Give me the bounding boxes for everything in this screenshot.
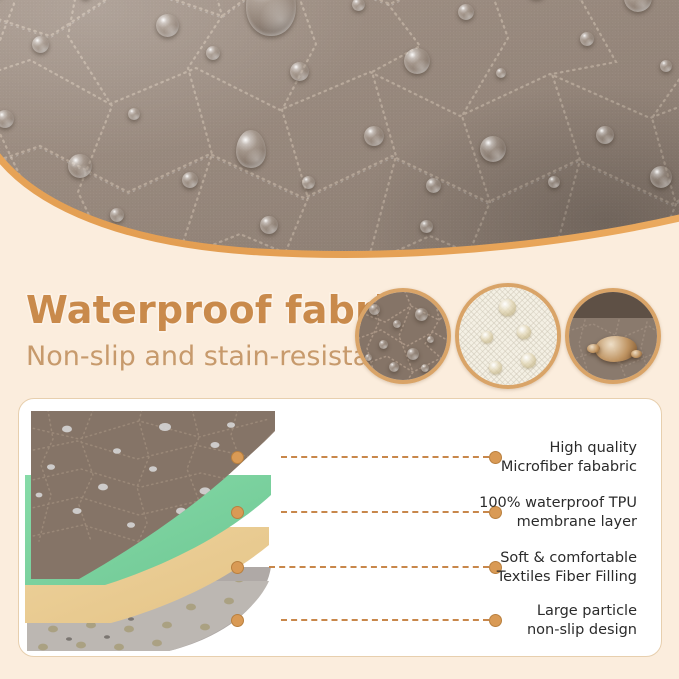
water-droplet: [480, 136, 506, 162]
fabric-texture: [0, 0, 679, 290]
callout-label-tpu: 100% waterproof TPU membrane layer: [479, 494, 637, 531]
water-droplet: [128, 108, 140, 120]
water-droplet: [290, 62, 309, 81]
layer-marker-4: [231, 614, 244, 627]
callout-line-1: Large particle: [527, 602, 637, 621]
callout-dot-4: [489, 614, 502, 627]
hero-photo-region: [0, 0, 679, 290]
callout-line-1: Soft & comfortable: [497, 549, 637, 568]
water-droplet: [364, 126, 384, 146]
infographic-page: Waterproof fabric Non-slip and stain-res…: [0, 0, 679, 679]
hero-photo-clip: [0, 0, 679, 290]
water-droplet: [596, 126, 614, 144]
page-title: Waterproof fabric: [26, 291, 410, 329]
water-droplet: [182, 172, 198, 188]
water-droplet: [110, 208, 124, 222]
water-droplet: [458, 4, 474, 20]
callout-line-2: Microfiber fababric: [501, 458, 637, 477]
leader-line-3: [269, 566, 489, 568]
callout-label-non-slip: Large particle non-slip design: [527, 602, 637, 639]
layer-marker-3: [231, 561, 244, 574]
page-subtitle: Non-slip and stain-resistant: [26, 343, 397, 370]
water-droplet: [156, 14, 179, 37]
callout-label-microfiber: High quality Microfiber fababric: [501, 439, 637, 476]
inset-water-droplets-on-fabric: [355, 288, 451, 384]
water-droplet: [426, 178, 441, 193]
water-droplet: [302, 176, 315, 189]
water-droplet: [206, 46, 220, 60]
water-droplet: [660, 60, 672, 72]
inset-beads-on-white-mesh: [455, 283, 561, 389]
water-droplet: [580, 32, 594, 46]
layer-stack-illustration: [19, 399, 349, 656]
water-droplet: [420, 220, 433, 233]
leader-line-4: [281, 619, 489, 621]
callout-line-2: membrane layer: [479, 513, 637, 532]
inset-liquid-spill-beading: [565, 288, 661, 384]
callout-line-1: High quality: [501, 439, 637, 458]
callout-line-2: non-slip design: [527, 621, 637, 640]
water-droplet: [496, 68, 506, 78]
leader-line-2: [281, 511, 489, 513]
water-droplet: [32, 36, 49, 53]
leader-line-1: [281, 456, 489, 458]
water-droplet: [650, 166, 672, 188]
layer-marker-2: [231, 506, 244, 519]
water-droplet: [260, 216, 278, 234]
water-droplet: [236, 130, 266, 168]
water-droplet: [548, 176, 560, 188]
callout-line-2: Textiles Fiber Filling: [497, 568, 637, 587]
water-droplet: [404, 48, 430, 74]
water-droplet: [68, 154, 92, 178]
layer-diagram-card: High quality Microfiber fababric 100% wa…: [18, 398, 662, 657]
callout-line-1: 100% waterproof TPU: [479, 494, 637, 513]
layer-marker-1: [231, 451, 244, 464]
callout-label-filling: Soft & comfortable Textiles Fiber Fillin…: [497, 549, 637, 586]
